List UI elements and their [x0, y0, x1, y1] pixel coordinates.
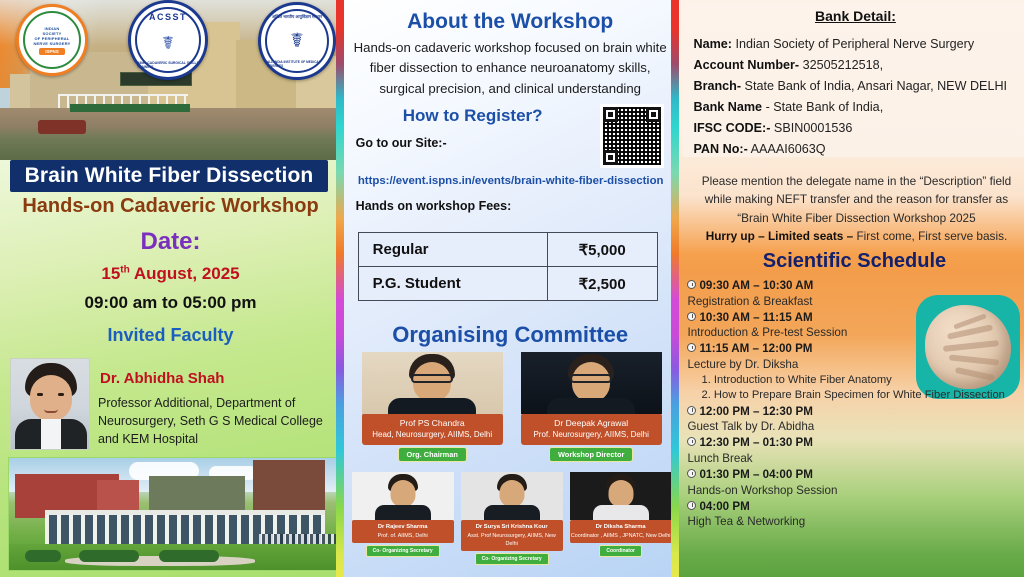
date-month-year: August, 2025: [130, 264, 240, 283]
fee-amount-pg-student: ₹2,500: [547, 267, 657, 301]
schedule-item-time: 10:30 AM – 11:15 AM: [687, 310, 1024, 326]
campus-hedge-3: [159, 550, 219, 562]
column-divider-left: [336, 0, 344, 577]
bank-line-pan: PAN No:- AAAAI6063Q: [693, 139, 1024, 160]
photo-face: [390, 480, 415, 507]
committee-member-coordinator: Dr Diksha Sharma Coordinator , AIIMS , J…: [570, 472, 672, 572]
campus-hedge-1: [25, 550, 61, 562]
photo-shoulders: [375, 505, 431, 520]
committee-member-role: Co- Organizing Secretary: [366, 545, 440, 557]
caduceus-icon: ☤: [162, 34, 174, 52]
bank-detail-lines: Name: Indian Society of Peripheral Nerve…: [693, 34, 1024, 160]
clock-icon: [687, 469, 696, 478]
hurry-up-line: Hurry up – Limited seats – First come, F…: [687, 227, 1024, 245]
ispns-logo-line-4: NERVE SURGERY: [33, 41, 70, 46]
registration-url-link[interactable]: https://event.ispns.in/events/brain-whit…: [350, 175, 672, 187]
committee-member-workshop-director: Dr Deepak Agrawal Prof. Neurosurgery, AI…: [521, 352, 662, 456]
committee-member-role: Co- Organizing Secretary: [475, 553, 549, 565]
how-to-register-heading: How to Register?: [348, 106, 598, 126]
schedule-time-2: 10:30 AM – 11:15 AM: [699, 311, 812, 324]
photo-face: [608, 480, 633, 507]
hurry-up-rest: First come, First serve basis.: [853, 229, 1007, 243]
committee-member-affiliation: Prof. of. AIIMS, Delhi: [378, 533, 428, 539]
avatar-face: [30, 375, 72, 421]
qr-finder-bottom-left: [603, 150, 618, 165]
avatar-shirt: [41, 419, 61, 450]
bank-line-branch: Branch- State Bank of India, Ansari Naga…: [693, 76, 1024, 97]
aiims-logo: अखिल भारतीय आयुर्विज्ञान संस्थान ☤ ALL I…: [258, 2, 336, 80]
acsst-logo: ACSST ☤ AIIMS CADAVERIC SURGICAL SKILLS …: [128, 0, 208, 80]
committee-name-block: Prof PS Chandra Head, Neurosurgery, AIIM…: [362, 413, 503, 445]
acsst-logo-acronym: ACSST: [149, 12, 187, 22]
committee-member-name: Dr Rajeev Sharma: [353, 523, 453, 532]
schedule-desc-6: Hands-on Workshop Session: [687, 483, 1024, 499]
bank-value-account: 32505212518,: [799, 58, 883, 72]
glasses-icon: [411, 374, 453, 383]
bank-label-ifsc: IFSC CODE:-: [693, 121, 770, 135]
aiims-campus-image: [8, 457, 336, 571]
transfer-note-line-3: “Brain White Fiber Dissection Workshop 2…: [687, 209, 1024, 227]
qr-finder-top-left: [603, 107, 618, 122]
bank-value-branch: State Bank of India, Ansari Nagar, NEW D…: [741, 79, 1007, 93]
time-value: 09:00 am to 05:00 pm: [0, 293, 336, 313]
bank-value-pan: AAAAI6063Q: [748, 142, 826, 156]
committee-member-co-secretary-1: Dr Rajeev Sharma Prof. of. AIIMS, Delhi …: [352, 472, 454, 572]
right-column: Bank Detail: Name: Indian Society of Per…: [679, 0, 1024, 577]
schedule-item-time: 01:30 PM – 04:00 PM: [687, 467, 1024, 483]
bank-line-ifsc: IFSC CODE:- SBIN0001536: [693, 118, 1024, 139]
committee-name-block: Dr Surya Sri Krishna Kour Asst. Prof Neu…: [461, 520, 563, 551]
date-day: 15: [101, 264, 120, 283]
bank-line-bankname: Bank Name - State Bank of India,: [693, 97, 1024, 118]
schedule-desc-5: Lunch Break: [687, 451, 1024, 467]
schedule-time-1: 09:30 AM – 10:30 AM: [699, 279, 813, 292]
committee-member-affiliation: Head, Neurosurgery, AIIMS, Delhi: [372, 430, 492, 439]
transfer-note-line-2: while making NEFT transfer and the reaso…: [687, 190, 1024, 208]
table-row: P.G. Student ₹2,500: [358, 267, 657, 301]
committee-top-row: Prof PS Chandra Head, Neurosurgery, AIIM…: [362, 352, 662, 456]
about-workshop-text: Hands-on cadaveric workshop focused on b…: [348, 38, 672, 99]
qr-code[interactable]: [600, 104, 664, 168]
goto-site-label: Go to our Site:-: [356, 136, 447, 150]
transfer-note: Please mention the delegate name in the …: [687, 172, 1024, 245]
acsst-logo-ring: ACSST ☤ AIIMS CADAVERIC SURGICAL SKILLS …: [135, 7, 201, 73]
committee-name-block: Dr Rajeev Sharma Prof. of. AIIMS, Delhi: [352, 520, 454, 543]
date-label: Date:: [0, 228, 336, 256]
bank-line-name: Name: Indian Society of Peripheral Nerve…: [693, 34, 1024, 55]
table-row: Regular ₹5,000: [358, 233, 657, 267]
committee-member-affiliation: Coordinator , AIIMS , JPNATC, New Delhi: [571, 533, 671, 539]
faculty-avatar: [10, 358, 90, 450]
organising-committee-heading: Organising Committee: [344, 322, 672, 348]
left-column: INDIAN SOCIETY OF PERIPHERAL NERVE SURGE…: [0, 0, 336, 577]
poster-subtitle: Hands-on Cadaveric Workshop: [0, 195, 336, 218]
date-value: 15th August, 2025: [0, 264, 336, 284]
committee-name-block: Dr Deepak Agrawal Prof. Neurosurgery, AI…: [521, 413, 662, 445]
transfer-note-line-1: Please mention the delegate name in the …: [687, 172, 1024, 190]
photo-shoulders: [388, 398, 476, 414]
qr-finder-top-right: [646, 107, 661, 122]
fee-label-regular: Regular: [358, 233, 547, 267]
committee-member-name: Dr Surya Sri Krishna Kour: [462, 523, 562, 532]
schedule-item-time: 04:00 PM: [687, 499, 1024, 515]
photo-face: [499, 480, 524, 507]
photo-shoulders: [547, 398, 635, 414]
committee-member-name: Dr Diksha Sharma: [571, 523, 671, 532]
schedule-time-5: 12:30 PM – 01:30 PM: [699, 436, 812, 449]
hurry-up-bold: Hurry up – Limited seats –: [706, 229, 854, 243]
clock-icon: [687, 501, 696, 510]
schedule-item-time: 12:30 PM – 01:30 PM: [687, 435, 1024, 451]
ispns-logo-ring: INDIAN SOCIETY OF PERIPHERAL NERVE SURGE…: [23, 11, 81, 69]
committee-member-name: Prof PS Chandra: [364, 417, 501, 429]
fee-label-pg-student: P.G. Student: [358, 267, 547, 301]
bank-value-name: Indian Society of Peripheral Nerve Surge…: [732, 37, 974, 51]
committee-bottom-row: Dr Rajeev Sharma Prof. of. AIIMS, Delhi …: [352, 472, 672, 572]
ispns-logo-badge: ISPNS: [39, 48, 65, 55]
caduceus-icon: ☤: [290, 31, 303, 51]
committee-photo: [352, 472, 454, 520]
clock-icon: [687, 312, 696, 321]
committee-member-affiliation: Prof. Neurosurgery, AIIMS, Delhi: [533, 430, 648, 439]
bank-label-account: Account Number-: [693, 58, 799, 72]
column-divider-right: [671, 0, 679, 577]
faculty-name: Dr. Abhidha Shah: [100, 370, 332, 387]
schedule-desc-2: Introduction & Pre-test Session: [687, 325, 1024, 341]
campus-colonnade-roof: [45, 510, 325, 515]
fees-heading: Hands on workshop Fees:: [356, 199, 512, 213]
poster-title-bar: Brain White Fiber Dissection: [10, 160, 328, 192]
invited-faculty-heading: Invited Faculty: [0, 325, 336, 346]
schedule-item-time: 09:30 AM – 10:30 AM: [687, 278, 1024, 294]
schedule-item-time: 11:15 AM – 12:00 PM: [687, 341, 1024, 357]
photo-shoulders: [484, 505, 540, 520]
hero-green-band: [70, 104, 190, 112]
schedule-item-time: 12:00 PM – 12:30 PM: [687, 404, 1024, 420]
clock-icon: [687, 280, 696, 289]
committee-photo: [521, 352, 662, 414]
page-title: Brain White Fiber Dissection: [25, 164, 314, 188]
schedule-desc-4: Guest Talk by Dr. Abidha: [687, 419, 1024, 435]
aiims-logo-hindi: अखिल भारतीय आयुर्विज्ञान संस्थान: [272, 14, 322, 20]
date-ordinal: th: [120, 264, 129, 275]
bank-value-ifsc: SBIN0001536: [770, 121, 852, 135]
bank-detail-panel: Bank Detail: Name: Indian Society of Per…: [683, 2, 1024, 157]
committee-member-role: Workshop Director: [549, 447, 633, 462]
committee-member-role: Coordinator: [599, 545, 642, 557]
committee-member-role: Org. Chairman: [398, 447, 467, 462]
committee-photo: [461, 472, 563, 520]
campus-hedge-2: [79, 550, 139, 562]
schedule-sub-3-1: 1. Introduction to White Fiber Anatomy: [687, 373, 1024, 388]
committee-member-name: Dr Deepak Agrawal: [523, 417, 660, 429]
faculty-description: Professor Additional, Department of Neur…: [98, 394, 336, 448]
glasses-icon: [570, 374, 612, 383]
schedule-desc-1: Registration & Breakfast: [687, 294, 1024, 310]
fees-table: Regular ₹5,000 P.G. Student ₹2,500: [358, 232, 658, 301]
bank-detail-heading: Bank Detail:: [683, 8, 1024, 24]
hero-plaza: [0, 108, 336, 160]
scientific-schedule-heading: Scientific Schedule: [679, 250, 1024, 273]
hero-awning: [38, 120, 86, 134]
clock-icon: [687, 437, 696, 446]
committee-member-affiliation: Asst. Prof Neurosurgery, AIIMS, New Delh…: [468, 533, 556, 547]
acsst-logo-subtitle: AIIMS CADAVERIC SURGICAL SKILLS TRAINING: [137, 61, 199, 69]
aiims-logo-ring: अखिल भारतीय आयुर्विज्ञान संस्थान ☤ ALL I…: [265, 9, 329, 73]
committee-member-chairman: Prof PS Chandra Head, Neurosurgery, AIIM…: [362, 352, 503, 456]
about-workshop-heading: About the Workshop: [344, 10, 672, 34]
bank-line-account: Account Number- 32505212518,: [693, 55, 1024, 76]
schedule-sub-3-2: 2. How to Prepare Brain Specimen for Whi…: [687, 388, 1024, 403]
clock-icon: [687, 406, 696, 415]
photo-shoulders: [593, 505, 649, 520]
schedule-time-3: 11:15 AM – 12:00 PM: [699, 342, 812, 355]
workshop-poster: INDIAN SOCIETY OF PERIPHERAL NERVE SURGE…: [0, 0, 1024, 577]
avatar-smile: [44, 409, 58, 413]
bank-label-branch: Branch-: [693, 79, 741, 93]
schedule-time-7: 04:00 PM: [699, 500, 749, 513]
committee-photo: [570, 472, 672, 520]
aiims-logo-subtitle: ALL INDIA INSTITUTE OF MEDICAL SCIENCES: [267, 60, 327, 68]
bank-label-bankname: Bank Name: [693, 100, 762, 114]
bank-label-name: Name:: [693, 37, 732, 51]
schedule-desc-7: High Tea & Networking: [687, 514, 1024, 530]
schedule-time-6: 01:30 PM – 04:00 PM: [699, 468, 812, 481]
bank-label-pan: PAN No:-: [693, 142, 747, 156]
avatar-eye-left: [37, 393, 43, 396]
schedule-desc-3: Lecture by Dr. Diksha: [687, 357, 1024, 373]
middle-column: About the Workshop Hands-on cadaveric wo…: [344, 0, 672, 577]
schedule-time-4: 12:00 PM – 12:30 PM: [699, 405, 812, 418]
fee-amount-regular: ₹5,000: [547, 233, 657, 267]
avatar-eye-right: [58, 393, 64, 396]
committee-name-block: Dr Diksha Sharma Coordinator , AIIMS , J…: [570, 520, 672, 543]
ispns-logo: INDIAN SOCIETY OF PERIPHERAL NERVE SURGE…: [16, 4, 88, 76]
qr-code-matrix: [603, 107, 661, 165]
committee-photo: [362, 352, 503, 414]
clock-icon: [687, 343, 696, 352]
schedule-list: 09:30 AM – 10:30 AM Registration & Break…: [687, 278, 1024, 530]
committee-member-co-secretary-2: Dr Surya Sri Krishna Kour Asst. Prof Neu…: [461, 472, 563, 572]
bank-value-bankname: - State Bank of India,: [762, 100, 883, 114]
